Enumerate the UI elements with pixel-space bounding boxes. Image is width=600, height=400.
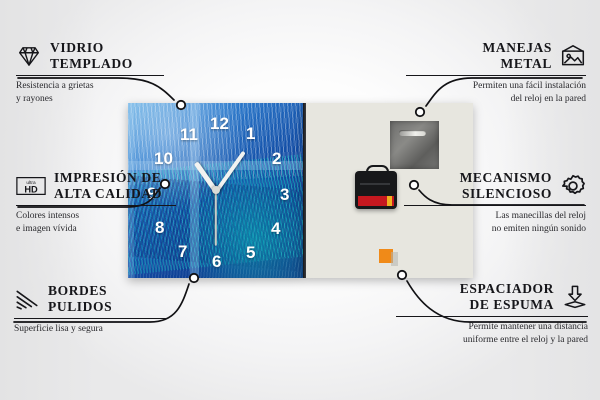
clock-numeral-12: 12	[210, 115, 229, 132]
callout-title: MANEJAS METAL	[483, 40, 552, 72]
clock-numeral-5: 5	[246, 244, 255, 261]
foam-spacer-arrow-icon	[562, 284, 588, 310]
callout-rule	[404, 205, 586, 207]
clock-numeral-6: 6	[212, 253, 221, 270]
clock-numeral-2: 2	[272, 150, 281, 167]
mechanism-hanging-loop	[366, 165, 389, 176]
clock-center-pin	[212, 186, 220, 194]
callout-vidrio-templado[interactable]: VIDRIO TEMPLADO Resistencia a grietas y …	[16, 40, 164, 106]
clock-numeral-7: 7	[178, 243, 187, 260]
callout-title: ESPACIADOR DE ESPUMA	[460, 281, 554, 313]
mechanism-red-label	[358, 196, 394, 206]
callout-subtitle: Permite mantener una distancia uniforme …	[396, 321, 588, 346]
metal-hanger-plate	[390, 121, 439, 169]
callout-header: MECANISMO SILENCIOSO	[404, 170, 586, 202]
orange-foam-spacer	[379, 249, 393, 263]
callout-mecanismo-silencioso[interactable]: MECANISMO SILENCIOSO Las manecillas del …	[404, 170, 586, 236]
clock-numeral-10: 10	[154, 150, 173, 167]
callout-subtitle: Superficie lisa y segura	[14, 323, 166, 336]
clock-mechanism-box	[355, 171, 397, 209]
callout-rule	[16, 75, 164, 77]
callout-impresion-alta-calidad[interactable]: ultra HD IMPRESIÓN DE ALTA CALIDAD Color…	[16, 170, 176, 236]
hanger-slot	[399, 130, 426, 136]
callout-subtitle: Las manecillas del reloj no emiten ningú…	[404, 210, 586, 235]
gear-icon	[560, 173, 586, 199]
clock-second-hand	[215, 191, 217, 246]
callout-subtitle: Resistencia a grietas y rayones	[16, 80, 164, 105]
callout-header: BORDES PULIDOS	[14, 283, 166, 315]
clock-numeral-4: 4	[271, 220, 280, 237]
callout-header: VIDRIO TEMPLADO	[16, 40, 164, 72]
callout-header: ESPACIADOR DE ESPUMA	[396, 281, 588, 313]
diamond-icon	[16, 43, 42, 69]
ultra-hd-icon-large-text: HD	[24, 184, 38, 194]
callout-title: BORDES PULIDOS	[48, 283, 112, 315]
callout-subtitle: Colores intensos e imagen vívida	[16, 210, 176, 235]
wall-hanging-frame-icon	[560, 43, 586, 69]
callout-espaciador-de-espuma[interactable]: ESPACIADOR DE ESPUMA Permite mantener un…	[396, 281, 588, 347]
callout-title: IMPRESIÓN DE ALTA CALIDAD	[54, 170, 162, 202]
clock-numeral-3: 3	[280, 186, 289, 203]
ultra-hd-icon: ultra HD	[16, 175, 46, 197]
callout-title: MECANISMO SILENCIOSO	[460, 170, 552, 202]
polished-edges-icon	[14, 286, 40, 312]
callout-header: MANEJAS METAL	[406, 40, 586, 72]
callout-rule	[16, 205, 176, 207]
callout-rule	[396, 316, 588, 318]
callout-header: ultra HD IMPRESIÓN DE ALTA CALIDAD	[16, 170, 176, 202]
clock-numeral-1: 1	[246, 125, 255, 142]
mechanism-detail	[360, 183, 390, 185]
callout-rule	[406, 75, 586, 77]
callout-subtitle: Permiten una fácil instalación del reloj…	[406, 80, 586, 105]
callout-manejas-metal[interactable]: MANEJAS METAL Permiten una fácil instala…	[406, 40, 586, 106]
callout-title: VIDRIO TEMPLADO	[50, 40, 133, 72]
infographic-canvas: 12 1 2 3 4 5 6 7 8 9 10 11	[0, 0, 600, 400]
callout-rule	[14, 318, 166, 320]
callout-bordes-pulidos[interactable]: BORDES PULIDOS Superficie lisa y segura	[14, 283, 166, 336]
clock-numeral-11: 11	[180, 126, 198, 143]
